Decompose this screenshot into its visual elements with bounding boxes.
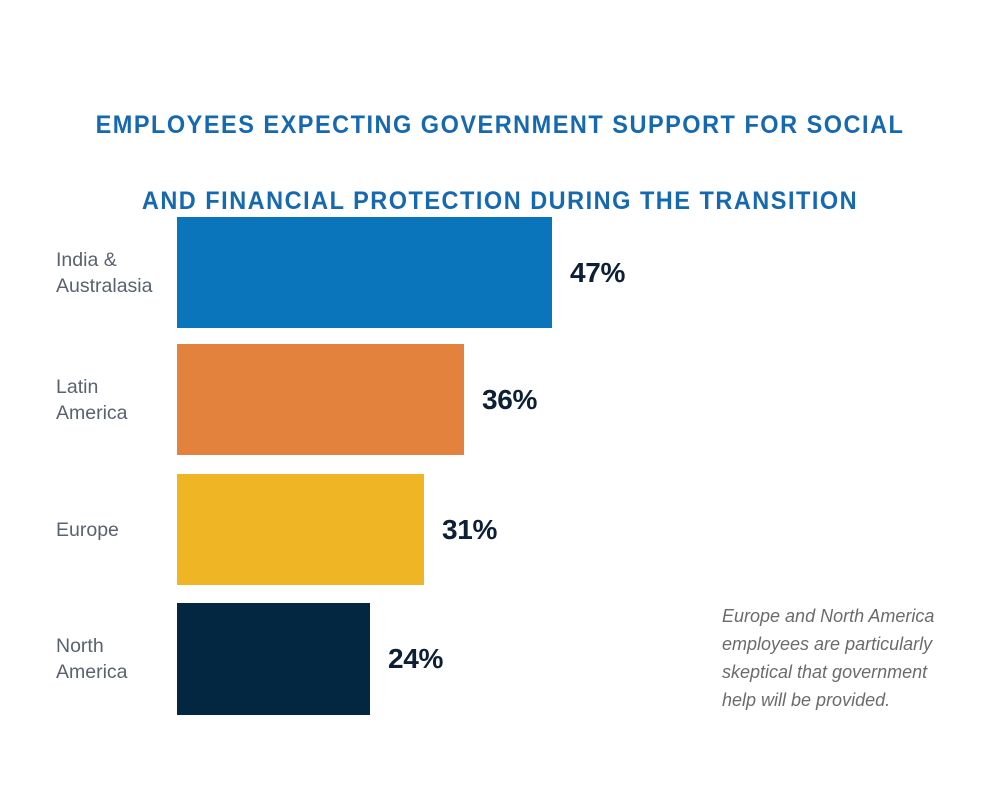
bar-row: Latin America 36%	[0, 344, 1000, 455]
bar-row: Europe 31%	[0, 474, 1000, 585]
bar-north-america[interactable]	[177, 603, 370, 715]
bar-latin-america[interactable]	[177, 344, 464, 455]
bar-value-label: 31%	[442, 514, 497, 546]
bar-india-australasia[interactable]	[177, 217, 552, 328]
bar-value-label: 36%	[482, 384, 537, 416]
chart-annotation: Europe and North America employees are p…	[722, 602, 972, 714]
bar-value-label: 24%	[388, 643, 443, 675]
bar-row: India & Australasia 47%	[0, 217, 1000, 328]
bar-value-label: 47%	[570, 257, 625, 289]
bar-europe[interactable]	[177, 474, 424, 585]
chart-canvas: EMPLOYEES EXPECTING GOVERNMENT SUPPORT F…	[0, 0, 1000, 792]
